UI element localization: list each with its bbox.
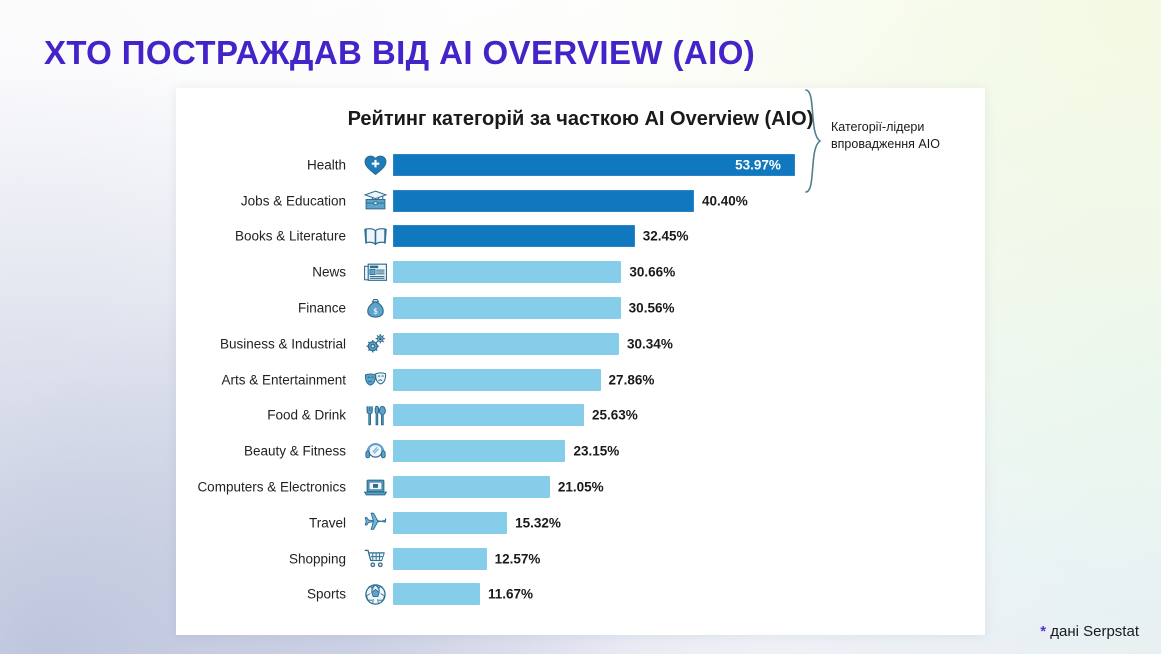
category-label: Sports xyxy=(307,587,346,602)
heart-plus-icon xyxy=(362,152,388,178)
chart-panel: Рейтинг категорій за часткою AI Overview… xyxy=(176,88,985,635)
bar xyxy=(393,369,601,391)
chart-row: Shopping12.57% xyxy=(176,541,985,577)
mirror-headphones-icon xyxy=(362,438,388,464)
annotation-line-2: впровадження AIO xyxy=(831,136,940,153)
shopping-cart-icon xyxy=(362,546,388,572)
bar-value-label: 30.56% xyxy=(629,301,675,316)
category-label: Business & Industrial xyxy=(220,336,346,351)
category-label: Beauty & Fitness xyxy=(244,444,346,459)
category-label: Shopping xyxy=(289,551,346,566)
category-label: Arts & Entertainment xyxy=(221,372,346,387)
chart-row: Food & Drink25.63% xyxy=(176,398,985,434)
newspaper-icon xyxy=(362,259,388,285)
chart-row: Travel15.32% xyxy=(176,505,985,541)
bar xyxy=(393,404,584,426)
svg-text:$: $ xyxy=(373,306,378,316)
chart-row: Computers & Electronics21.05% xyxy=(176,469,985,505)
bar-value-label: 32.45% xyxy=(643,229,689,244)
soccer-ball-icon xyxy=(362,581,388,607)
graduation-briefcase-icon xyxy=(362,188,388,214)
chart-row: Business & Industrial30.34% xyxy=(176,326,985,362)
bar-chart: Health53.97%Jobs & Education40.40%Books … xyxy=(176,147,985,612)
category-label: Books & Literature xyxy=(235,229,346,244)
bar-value-label: 30.66% xyxy=(629,265,675,280)
category-label: Food & Drink xyxy=(267,408,346,423)
curly-brace-icon xyxy=(803,89,823,193)
annotation-line-1: Категорії-лідери xyxy=(831,119,940,136)
gears-icon xyxy=(362,331,388,357)
bar-value-label: 11.67% xyxy=(488,587,533,602)
category-label: Computers & Electronics xyxy=(197,480,346,495)
chart-row: News30.66% xyxy=(176,254,985,290)
chart-row: Arts & Entertainment27.86% xyxy=(176,362,985,398)
chart-row: Finance$30.56% xyxy=(176,290,985,326)
category-label: Travel xyxy=(309,515,346,530)
chart-row: Books & Literature32.45% xyxy=(176,219,985,255)
laptop-icon xyxy=(362,474,388,500)
category-label: News xyxy=(312,265,346,280)
theater-masks-icon xyxy=(362,367,388,393)
bar xyxy=(393,512,507,534)
open-book-icon xyxy=(362,223,388,249)
category-label: Finance xyxy=(298,301,346,316)
bar-value-label: 15.32% xyxy=(515,515,561,530)
bar xyxy=(393,476,550,498)
airplane-icon xyxy=(362,510,388,536)
bar xyxy=(393,548,487,570)
bar-value-label: 53.97% xyxy=(735,157,781,172)
footnote-label: дані Serpstat xyxy=(1046,623,1139,640)
bar xyxy=(393,583,480,605)
chart-row: Beauty & Fitness23.15% xyxy=(176,433,985,469)
page-title: ХТО ПОСТРАЖДАВ ВІД AI OVERVIEW (AIO) xyxy=(44,34,755,72)
chart-row: Sports11.67% xyxy=(176,577,985,613)
annotation-text: Категорії-лідери впровадження AIO xyxy=(831,119,940,153)
money-bag-icon: $ xyxy=(362,295,388,321)
bar-value-label: 40.40% xyxy=(702,193,748,208)
bar-value-label: 30.34% xyxy=(627,336,673,351)
source-footnote: * дані Serpstat xyxy=(1040,623,1139,640)
bar-value-label: 21.05% xyxy=(558,480,604,495)
bar-value-label: 23.15% xyxy=(573,444,619,459)
cutlery-icon xyxy=(362,402,388,428)
bar-value-label: 12.57% xyxy=(495,551,541,566)
bar xyxy=(393,297,621,319)
bar xyxy=(393,440,565,462)
category-label: Health xyxy=(307,157,346,172)
bar-value-label: 27.86% xyxy=(609,372,655,387)
bar xyxy=(393,190,694,212)
bar-value-label: 25.63% xyxy=(592,408,638,423)
bar xyxy=(393,225,635,247)
category-label: Jobs & Education xyxy=(241,193,346,208)
bar xyxy=(393,261,621,283)
chart-row: Jobs & Education40.40% xyxy=(176,183,985,219)
bar xyxy=(393,333,619,355)
